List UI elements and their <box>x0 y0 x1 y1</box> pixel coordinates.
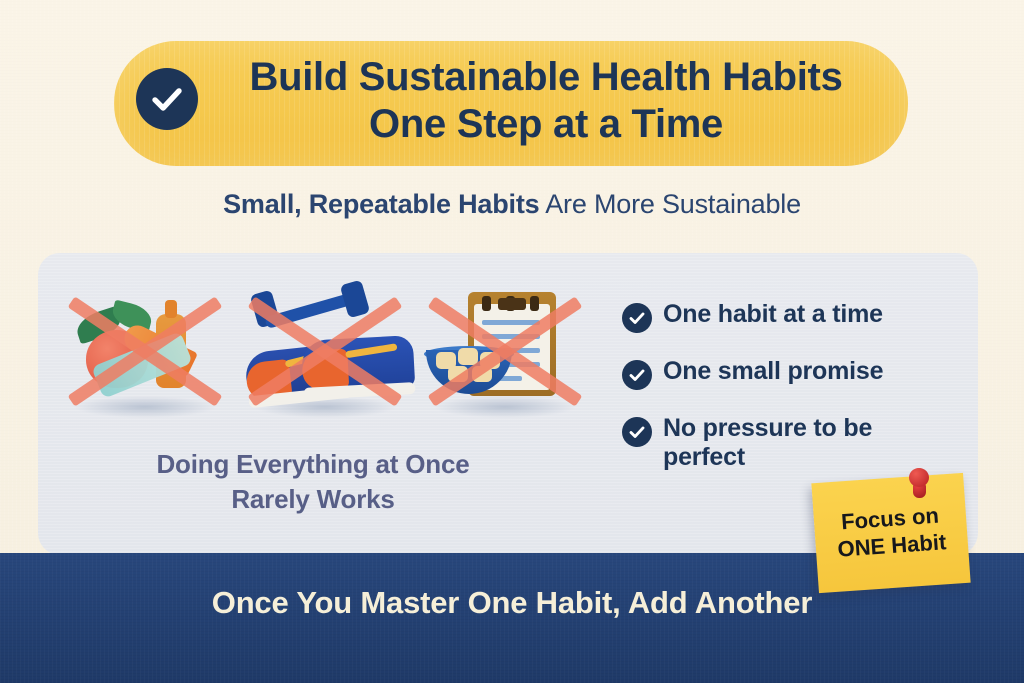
subtitle-strong: Small, Repeatable Habits <box>223 189 539 219</box>
drop-shadow <box>434 396 576 418</box>
list-item-label: One small promise <box>663 357 883 386</box>
list-item-label: One habit at a time <box>663 300 883 329</box>
list-item: One habit at a time <box>622 300 952 333</box>
clipboard-bowl-crossed-out <box>420 276 590 426</box>
check-circle-icon <box>622 303 652 333</box>
subtitle-light: Are More Sustainable <box>539 189 800 219</box>
benefits-checklist: One habit at a time One small promise No… <box>622 300 952 497</box>
check-circle-icon <box>622 360 652 390</box>
sneaker-icon <box>301 335 416 393</box>
vegetables-crossed-out <box>60 276 230 426</box>
subtitle: Small, Repeatable Habits Are More Sustai… <box>0 189 1024 220</box>
infographic-canvas: Build Sustainable Health Habits One Step… <box>0 0 1024 683</box>
dumbbell-weight <box>340 280 371 319</box>
footer-text: Once You Master One Habit, Add Another <box>0 585 1024 621</box>
page-title: Build Sustainable Health Habits One Step… <box>196 54 896 148</box>
sticky-note-text: Focus on ONE Habit <box>811 473 970 593</box>
food-piece <box>472 366 492 382</box>
failure-caption: Doing Everything at Once Rarely Works <box>88 447 538 517</box>
caption-line-1: Doing Everything at Once <box>88 447 538 482</box>
caption-line-2: Rarely Works <box>88 482 538 517</box>
sticky-note: Focus on ONE Habit <box>811 473 970 593</box>
sneakers-dumbbell-crossed-out <box>240 276 410 426</box>
crossed-out-thumbnails <box>60 276 590 426</box>
check-circle-icon <box>622 417 652 447</box>
food-piece <box>448 366 468 382</box>
title-line-1: Build Sustainable Health Habits <box>196 54 896 101</box>
list-item: No pressure to be perfect <box>622 414 952 473</box>
drop-shadow <box>74 396 216 418</box>
food-piece <box>458 348 478 365</box>
pushpin-icon <box>905 468 933 502</box>
check-circle-icon <box>136 68 198 130</box>
title-line-2: One Step at a Time <box>196 101 896 148</box>
list-item-label: No pressure to be perfect <box>663 414 952 473</box>
list-item: One small promise <box>622 357 952 390</box>
